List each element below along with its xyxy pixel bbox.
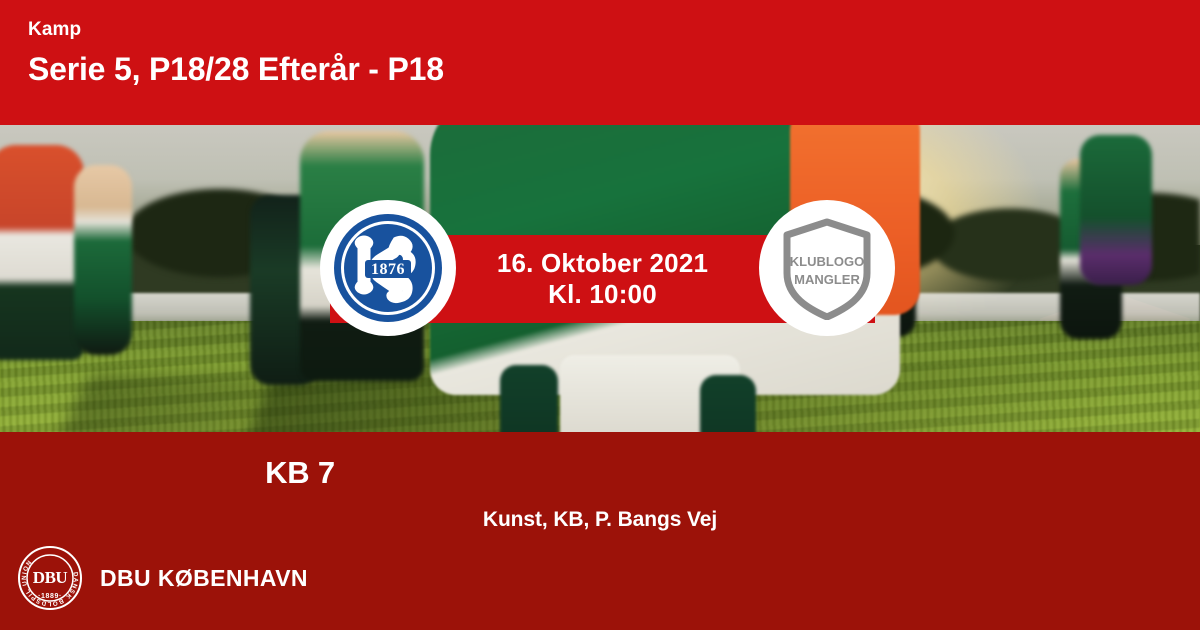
match-time: Kl. 10:00 <box>548 279 657 310</box>
svg-text:DBU: DBU <box>33 568 68 587</box>
dbu-seal-icon: DANSK BOLDSPIL UNION DBU ·1889· <box>18 546 82 610</box>
away-logo-line1: KLUBLOGO <box>790 254 864 269</box>
shield-icon: KLUBLOGO MANGLER <box>779 216 875 320</box>
match-venue: Kunst, KB, P. Bangs Vej <box>0 508 1200 532</box>
svg-text:·1889·: ·1889· <box>38 593 62 600</box>
footer-label: DBU KØBENHAVN <box>100 565 308 592</box>
footer-branding: DANSK BOLDSPIL UNION DBU ·1889· DBU KØBE… <box>18 542 308 614</box>
photo-player-sock-left <box>500 365 558 432</box>
match-date: 16. Oktober 2021 <box>497 248 708 279</box>
header-bar: Kamp Serie 5, P18/28 Efterår - P18 <box>0 0 1200 125</box>
header-eyebrow: Kamp <box>28 20 1200 41</box>
photo-player-7 <box>1080 135 1152 285</box>
teams-row: KB 7 Oversidder <box>0 450 1200 496</box>
photo-player-1 <box>0 145 84 360</box>
svg-text:1876: 1876 <box>371 261 405 278</box>
kb-crest-icon: 1876 <box>332 212 444 324</box>
photo-player-sock-right <box>700 375 756 432</box>
home-team-name: KB 7 <box>0 455 790 491</box>
away-logo-line2: MANGLER <box>794 272 860 287</box>
match-promo-card: Kamp Serie 5, P18/28 Efterår - P18 16. O… <box>0 0 1200 630</box>
photo-player-2 <box>74 165 132 355</box>
page-title: Serie 5, P18/28 Efterår - P18 <box>28 51 1200 88</box>
away-club-logo: KLUBLOGO MANGLER <box>759 200 895 336</box>
away-team-name: Oversidder <box>790 455 1200 491</box>
home-club-logo: 1876 <box>320 200 456 336</box>
